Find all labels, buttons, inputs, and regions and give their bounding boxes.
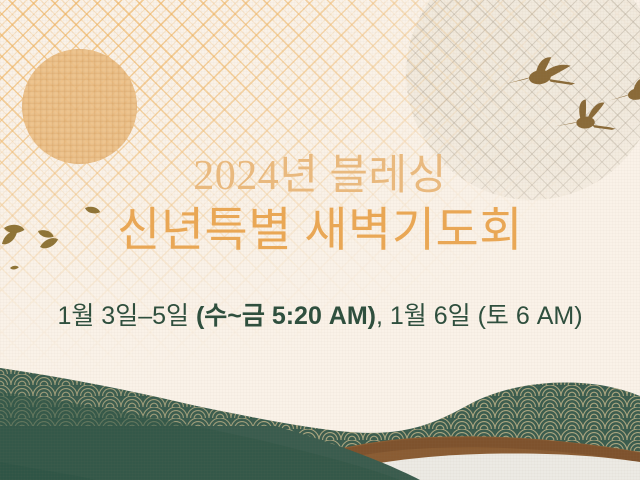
schedule-part-3: , 1월 6일 (토 6 AM) — [376, 302, 583, 330]
schedule-part-1: 1월 3일–5일 — [57, 302, 196, 330]
schedule-part-2-bold: (수~금 5:20 AM) — [196, 302, 376, 330]
page-title-line-2: 신년특별 새벽기도회 — [0, 202, 640, 260]
page-title-line-1: 2024년 블레싱 — [0, 150, 640, 202]
schedule-text: 1월 3일–5일 (수~금 5:20 AM), 1월 6일 (토 6 AM) — [0, 300, 640, 332]
title-block: 2024년 블레싱 신년특별 새벽기도회 — [0, 150, 640, 260]
poster-canvas: 2024년 블레싱 신년특별 새벽기도회 1월 3일–5일 (수~금 5:20 … — [0, 0, 640, 480]
